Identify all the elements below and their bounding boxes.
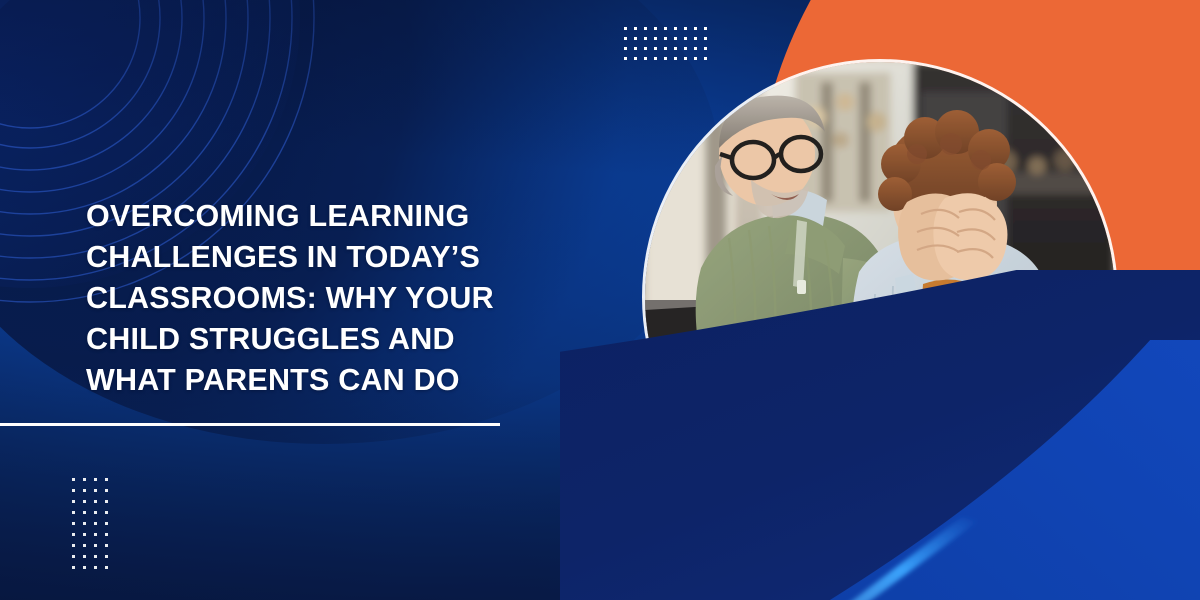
grid-dot (684, 47, 687, 50)
grid-dot (654, 37, 657, 40)
grid-dot (105, 489, 108, 492)
grid-dot (72, 478, 75, 481)
grid-dot (674, 57, 677, 60)
grid-dot (105, 500, 108, 503)
grid-dot (624, 27, 627, 30)
grid-dot (94, 522, 97, 525)
grid-dot (94, 511, 97, 514)
grid-dot (72, 489, 75, 492)
grid-dot (624, 57, 627, 60)
grid-dot (664, 37, 667, 40)
grid-dot (72, 500, 75, 503)
grid-dot (634, 47, 637, 50)
grid-dot (94, 555, 97, 558)
grid-dot (674, 37, 677, 40)
grid-dot (83, 511, 86, 514)
grid-dot (684, 27, 687, 30)
dot-grid-bottom (72, 478, 120, 570)
grid-dot (644, 47, 647, 50)
grid-dot (105, 555, 108, 558)
grid-dot (684, 57, 687, 60)
grid-dot (634, 27, 637, 30)
dot-grid-top (624, 27, 716, 71)
grid-dot (83, 478, 86, 481)
grid-dot (674, 27, 677, 30)
grid-dot (94, 489, 97, 492)
grid-dot (704, 47, 707, 50)
grid-dot (83, 500, 86, 503)
grid-dot (704, 27, 707, 30)
grid-dot (704, 57, 707, 60)
grid-dot (694, 27, 697, 30)
grid-dot (654, 47, 657, 50)
grid-dot (634, 57, 637, 60)
grid-dot (94, 533, 97, 536)
grid-dot (83, 555, 86, 558)
grid-dot (105, 478, 108, 481)
grid-dot (83, 522, 86, 525)
grid-dot (72, 533, 75, 536)
grid-dot (624, 37, 627, 40)
grid-dot (694, 47, 697, 50)
grid-dot (654, 57, 657, 60)
grid-dot (72, 555, 75, 558)
grid-dot (664, 57, 667, 60)
grid-dot (644, 57, 647, 60)
grid-dot (94, 478, 97, 481)
grid-dot (83, 566, 86, 569)
grid-dot (634, 37, 637, 40)
grid-dot (72, 544, 75, 547)
grid-dot (664, 47, 667, 50)
grid-dot (72, 522, 75, 525)
headline-divider (0, 423, 500, 426)
grid-dot (83, 489, 86, 492)
grid-dot (644, 37, 647, 40)
grid-dot (105, 511, 108, 514)
grid-dot (674, 47, 677, 50)
blog-banner: OVERCOMING LEARNING CHALLENGES IN TODAY’… (0, 0, 1200, 600)
grid-dot (72, 511, 75, 514)
grid-dot (83, 544, 86, 547)
grid-dot (654, 27, 657, 30)
grid-dot (684, 37, 687, 40)
grid-dot (83, 533, 86, 536)
grid-dot (704, 37, 707, 40)
page-title: OVERCOMING LEARNING CHALLENGES IN TODAY’… (86, 196, 526, 401)
light-streak-decoration (810, 515, 1090, 600)
grid-dot (694, 37, 697, 40)
grid-dot (105, 533, 108, 536)
grid-dot (105, 522, 108, 525)
grid-dot (624, 47, 627, 50)
grid-dot (694, 57, 697, 60)
grid-dot (94, 566, 97, 569)
grid-dot (644, 27, 647, 30)
headline-block: OVERCOMING LEARNING CHALLENGES IN TODAY’… (86, 196, 526, 401)
grid-dot (105, 566, 108, 569)
grid-dot (94, 500, 97, 503)
grid-dot (72, 566, 75, 569)
grid-dot (94, 544, 97, 547)
grid-dot (105, 544, 108, 547)
grid-dot (664, 27, 667, 30)
